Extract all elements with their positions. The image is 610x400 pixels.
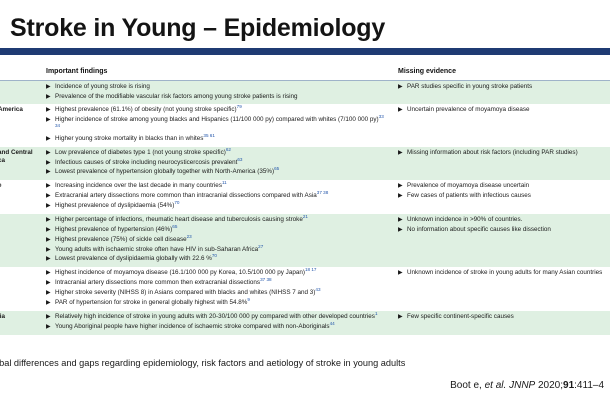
list-item: ▶Relatively high incidence of stroke in … [46, 313, 390, 322]
arrow-bullet-icon: ▶ [46, 236, 51, 244]
list-item: ▶Extracranial artery dissections more co… [46, 192, 390, 201]
reference-superscript: 11 [222, 180, 227, 185]
arrow-bullet-icon: ▶ [46, 159, 51, 167]
list-item-text: Extracranial artery dissections more com… [55, 192, 317, 199]
list-item-text: PAR studies specific in young stroke pat… [407, 83, 532, 90]
reference-superscript: 37 38 [317, 190, 329, 195]
table-row: ▶Higher percentage of infections, rheuma… [0, 214, 610, 267]
list-item: ▶Intracranial artery dissections more co… [46, 279, 390, 288]
reference-superscript: 43 [315, 287, 320, 292]
arrow-bullet-icon: ▶ [398, 149, 403, 157]
page-title: Stroke in Young – Epidemiology [10, 14, 385, 43]
reference-superscript: 65 [274, 166, 279, 171]
arrow-bullet-icon: ▶ [398, 226, 403, 234]
region-cell [0, 80, 42, 104]
arrow-bullet-icon: ▶ [46, 299, 51, 307]
reference-superscript: 1 [375, 311, 378, 316]
missing-evidence-list: ▶Unknown incidence in >90% of countries.… [398, 216, 606, 235]
table-row: ▶Highest incidence of moyamoya disease (… [0, 267, 610, 311]
region-cell: e [0, 180, 42, 214]
region-cell [0, 267, 42, 311]
missing-evidence-cell: ▶Missing information about risk factors … [394, 147, 610, 181]
findings-list: ▶Relatively high incidence of stroke in … [46, 313, 390, 332]
missing-evidence-list: ▶Uncertain prevalence of moyamoya diseas… [398, 106, 606, 115]
list-item-text: Highest prevalence (75%) of sickle cell … [55, 236, 187, 243]
list-item: ▶Higher young stroke mortality in blacks… [46, 135, 390, 144]
list-item-text: Highest incidence of moyamoya disease (1… [55, 269, 305, 276]
list-item: ▶Incidence of young stroke is rising [46, 83, 390, 92]
missing-evidence-cell: ▶Few specific continent-specific causes [394, 311, 610, 335]
table-row: ▶Incidence of young stroke is rising▶Pre… [0, 80, 610, 104]
findings-list: ▶Highest prevalence (61.1%) of obesity (… [46, 106, 390, 143]
list-item-text: Relatively high incidence of stroke in y… [55, 313, 375, 320]
missing-evidence-cell: ▶Unknown incidence in >90% of countries.… [394, 214, 610, 267]
region-cell: America [0, 104, 42, 146]
list-item: ▶Unknown incidence of stroke in young ad… [398, 269, 606, 278]
list-item-text: Lowest prevalence of hypertension global… [55, 168, 274, 175]
list-item: ▶Low prevalence of diabetes type 1 (not … [46, 149, 390, 158]
list-item-text: Higher young stroke mortality in blacks … [55, 135, 203, 142]
arrow-bullet-icon: ▶ [46, 279, 51, 287]
findings-cell: ▶Relatively high incidence of stroke in … [42, 311, 394, 335]
epidemiology-table: Important findings Missing evidence ▶Inc… [0, 66, 610, 335]
list-item: ▶Higher percentage of infections, rheuma… [46, 216, 390, 225]
arrow-bullet-icon: ▶ [46, 246, 51, 254]
list-item-text: Unknown incidence of stroke in young adu… [407, 269, 602, 276]
list-item: ▶Highest incidence of moyamoya disease (… [46, 269, 390, 278]
credit-journal: JNNP [509, 380, 535, 391]
list-item-text: Incidence of young stroke is rising [55, 83, 150, 90]
arrow-bullet-icon: ▶ [46, 269, 51, 277]
list-item-text: Prevalence of moyamoya disease uncertain [407, 182, 529, 189]
arrow-bullet-icon: ▶ [46, 106, 51, 114]
list-item-text: Low prevalence of diabetes type 1 (not y… [55, 149, 226, 156]
list-item: ▶Uncertain prevalence of moyamoya diseas… [398, 106, 606, 115]
figure-caption: obal differences and gaps regarding epid… [0, 358, 610, 368]
findings-list: ▶Higher percentage of infections, rheuma… [46, 216, 390, 264]
list-item-text: Increasing incidence over the last decad… [55, 182, 222, 189]
list-item-text: Lowest prevalence of dyslipidaemia globa… [55, 255, 212, 262]
list-item: ▶Higher stroke severity (NIHSS 8) in Asi… [46, 289, 390, 298]
slide-root: Stroke in Young – Epidemiology Important… [0, 0, 610, 400]
list-item: ▶Lowest prevalence of dyslipidaemia glob… [46, 255, 390, 264]
list-item: ▶Highest prevalence of dyslipidaemia (54… [46, 202, 390, 211]
reference-superscript: 18 17 [305, 267, 317, 272]
missing-evidence-cell: ▶Prevalence of moyamoya disease uncertai… [394, 180, 610, 214]
findings-cell: ▶Incidence of young stroke is rising▶Pre… [42, 80, 394, 104]
findings-list: ▶Increasing incidence over the last deca… [46, 182, 390, 210]
list-item: ▶Highest prevalence (75%) of sickle cell… [46, 236, 390, 245]
arrow-bullet-icon: ▶ [46, 192, 51, 200]
findings-list: ▶Highest incidence of moyamoya disease (… [46, 269, 390, 307]
missing-evidence-cell: ▶Unknown incidence of stroke in young ad… [394, 267, 610, 311]
arrow-bullet-icon: ▶ [46, 168, 51, 176]
list-item: ▶Young Aboriginal people have higher inc… [46, 323, 390, 332]
findings-list: ▶Low prevalence of diabetes type 1 (not … [46, 149, 390, 177]
reference-superscript: 27 [258, 244, 263, 249]
credit-etal: et al. [485, 380, 507, 391]
arrow-bullet-icon: ▶ [46, 323, 51, 331]
arrow-bullet-icon: ▶ [46, 135, 51, 143]
reference-superscript: 70 [212, 253, 217, 258]
credit-pages: :411–4 [574, 380, 604, 391]
arrow-bullet-icon: ▶ [398, 269, 403, 277]
reference-superscript: 65 [172, 224, 177, 229]
list-item: ▶Higher incidence of stroke among young … [46, 116, 390, 133]
list-item: ▶Infectious causes of stroke including n… [46, 159, 390, 168]
findings-cell: ▶Highest incidence of moyamoya disease (… [42, 267, 394, 311]
credit-volume: 91 [563, 380, 574, 391]
arrow-bullet-icon: ▶ [46, 149, 51, 157]
list-item: ▶Increasing incidence over the last deca… [46, 182, 390, 191]
table-header-row: Important findings Missing evidence [0, 66, 610, 80]
reference-superscript: 23 [187, 234, 192, 239]
list-item: ▶Missing information about risk factors … [398, 149, 606, 158]
list-item-text: Higher incidence of stroke among young b… [55, 116, 379, 123]
missing-evidence-cell: ▶PAR studies specific in young stroke pa… [394, 80, 610, 104]
findings-cell: ▶Highest prevalence (61.1%) of obesity (… [42, 104, 394, 146]
title-underline-rule [0, 48, 610, 55]
missing-evidence-list: ▶PAR studies specific in young stroke pa… [398, 83, 606, 92]
region-cell [0, 214, 42, 267]
arrow-bullet-icon: ▶ [398, 83, 403, 91]
list-item: ▶Unknown incidence in >90% of countries. [398, 216, 606, 225]
arrow-bullet-icon: ▶ [398, 182, 403, 190]
reference-superscript: 79 [237, 104, 242, 109]
list-item-text: Uncertain prevalence of moyamoya disease [407, 106, 530, 113]
findings-cell: ▶Higher percentage of infections, rheuma… [42, 214, 394, 267]
list-item: ▶PAR of hypertension for stroke in gener… [46, 299, 390, 308]
reference-superscript: 35 61 [203, 133, 215, 138]
reference-superscript: 37 38 [260, 277, 272, 282]
arrow-bullet-icon: ▶ [46, 93, 51, 101]
arrow-bullet-icon: ▶ [46, 255, 51, 263]
arrow-bullet-icon: ▶ [398, 106, 403, 114]
arrow-bullet-icon: ▶ [398, 313, 403, 321]
list-item: ▶No information about specific causes li… [398, 226, 606, 235]
list-item-text: Few cases of patients with infectious ca… [407, 192, 531, 199]
list-item-text: Highest prevalence of hypertension (46%) [55, 226, 172, 233]
list-item: ▶Few cases of patients with infectious c… [398, 192, 606, 201]
arrow-bullet-icon: ▶ [46, 83, 51, 91]
arrow-bullet-icon: ▶ [398, 216, 403, 224]
list-item-text: Higher stroke severity (NIHSS 8) in Asia… [55, 289, 315, 296]
list-item-text: Few specific continent-specific causes [407, 313, 514, 320]
list-item-text: Young Aboriginal people have higher inci… [55, 323, 330, 330]
list-item: ▶Highest prevalence (61.1%) of obesity (… [46, 106, 390, 115]
arrow-bullet-icon: ▶ [46, 116, 51, 124]
missing-evidence-list: ▶Prevalence of moyamoya disease uncertai… [398, 182, 606, 201]
credit-year: 2020; [538, 380, 563, 391]
arrow-bullet-icon: ▶ [46, 289, 51, 297]
credit-authors: Boot e, [450, 380, 482, 391]
findings-list: ▶Incidence of young stroke is rising▶Pre… [46, 83, 390, 102]
header-missing-evidence: Missing evidence [394, 66, 610, 80]
table-row: and Central ca▶Low prevalence of diabete… [0, 147, 610, 181]
arrow-bullet-icon: ▶ [46, 182, 51, 190]
list-item: ▶Prevalence of the modifiable vascular r… [46, 93, 390, 102]
findings-cell: ▶Low prevalence of diabetes type 1 (not … [42, 147, 394, 181]
arrow-bullet-icon: ▶ [46, 313, 51, 321]
missing-evidence-list: ▶Missing information about risk factors … [398, 149, 606, 158]
list-item-text: Unknown incidence in >90% of countries. [407, 216, 522, 223]
list-item-text: No information about specific causes lik… [407, 226, 551, 233]
region-cell: lia [0, 311, 42, 335]
region-cell: and Central ca [0, 147, 42, 181]
list-item: ▶PAR studies specific in young stroke pa… [398, 83, 606, 92]
list-item-text: Infectious causes of stroke including ne… [55, 159, 237, 166]
arrow-bullet-icon: ▶ [46, 226, 51, 234]
list-item-text: Highest prevalence (61.1%) of obesity (n… [55, 106, 237, 113]
list-item: ▶Highest prevalence of hypertension (46%… [46, 226, 390, 235]
citation-credit: Boot e, et al. JNNP 2020;91:411–4 [450, 380, 604, 391]
arrow-bullet-icon: ▶ [46, 216, 51, 224]
reference-superscript: 70 [174, 200, 179, 205]
list-item-text: PAR of hypertension for stroke in genera… [55, 299, 247, 306]
list-item: ▶Lowest prevalence of hypertension globa… [46, 168, 390, 177]
header-region [0, 66, 42, 80]
missing-evidence-cell: ▶Uncertain prevalence of moyamoya diseas… [394, 104, 610, 146]
reference-superscript: 62 [226, 147, 231, 152]
list-item-text: Highest prevalence of dyslipidaemia (54%… [55, 202, 174, 209]
missing-evidence-list: ▶Few specific continent-specific causes [398, 313, 606, 322]
list-item-text: Young adults with ischaemic stroke often… [55, 246, 258, 253]
list-item-text: Intracranial artery dissections more com… [55, 279, 260, 286]
list-item: ▶Few specific continent-specific causes [398, 313, 606, 322]
list-item-text: Prevalence of the modifiable vascular ri… [55, 93, 298, 100]
arrow-bullet-icon: ▶ [46, 202, 51, 210]
list-item: ▶Prevalence of moyamoya disease uncertai… [398, 182, 606, 191]
findings-cell: ▶Increasing incidence over the last deca… [42, 180, 394, 214]
missing-evidence-list: ▶Unknown incidence of stroke in young ad… [398, 269, 606, 278]
list-item-text: Missing information about risk factors (… [407, 149, 578, 156]
list-item: ▶Young adults with ischaemic stroke ofte… [46, 246, 390, 255]
reference-superscript: 44 [330, 321, 335, 326]
table-row: lia▶Relatively high incidence of stroke … [0, 311, 610, 335]
reference-superscript: 63 [237, 157, 242, 162]
table-row: e▶Increasing incidence over the last dec… [0, 180, 610, 214]
reference-superscript: 21 [303, 214, 308, 219]
arrow-bullet-icon: ▶ [398, 192, 403, 200]
table-row: America▶Highest prevalence (61.1%) of ob… [0, 104, 610, 146]
reference-superscript: 9 [247, 297, 250, 302]
list-item-text: Higher percentage of infections, rheumat… [55, 216, 303, 223]
header-important-findings: Important findings [42, 66, 394, 80]
